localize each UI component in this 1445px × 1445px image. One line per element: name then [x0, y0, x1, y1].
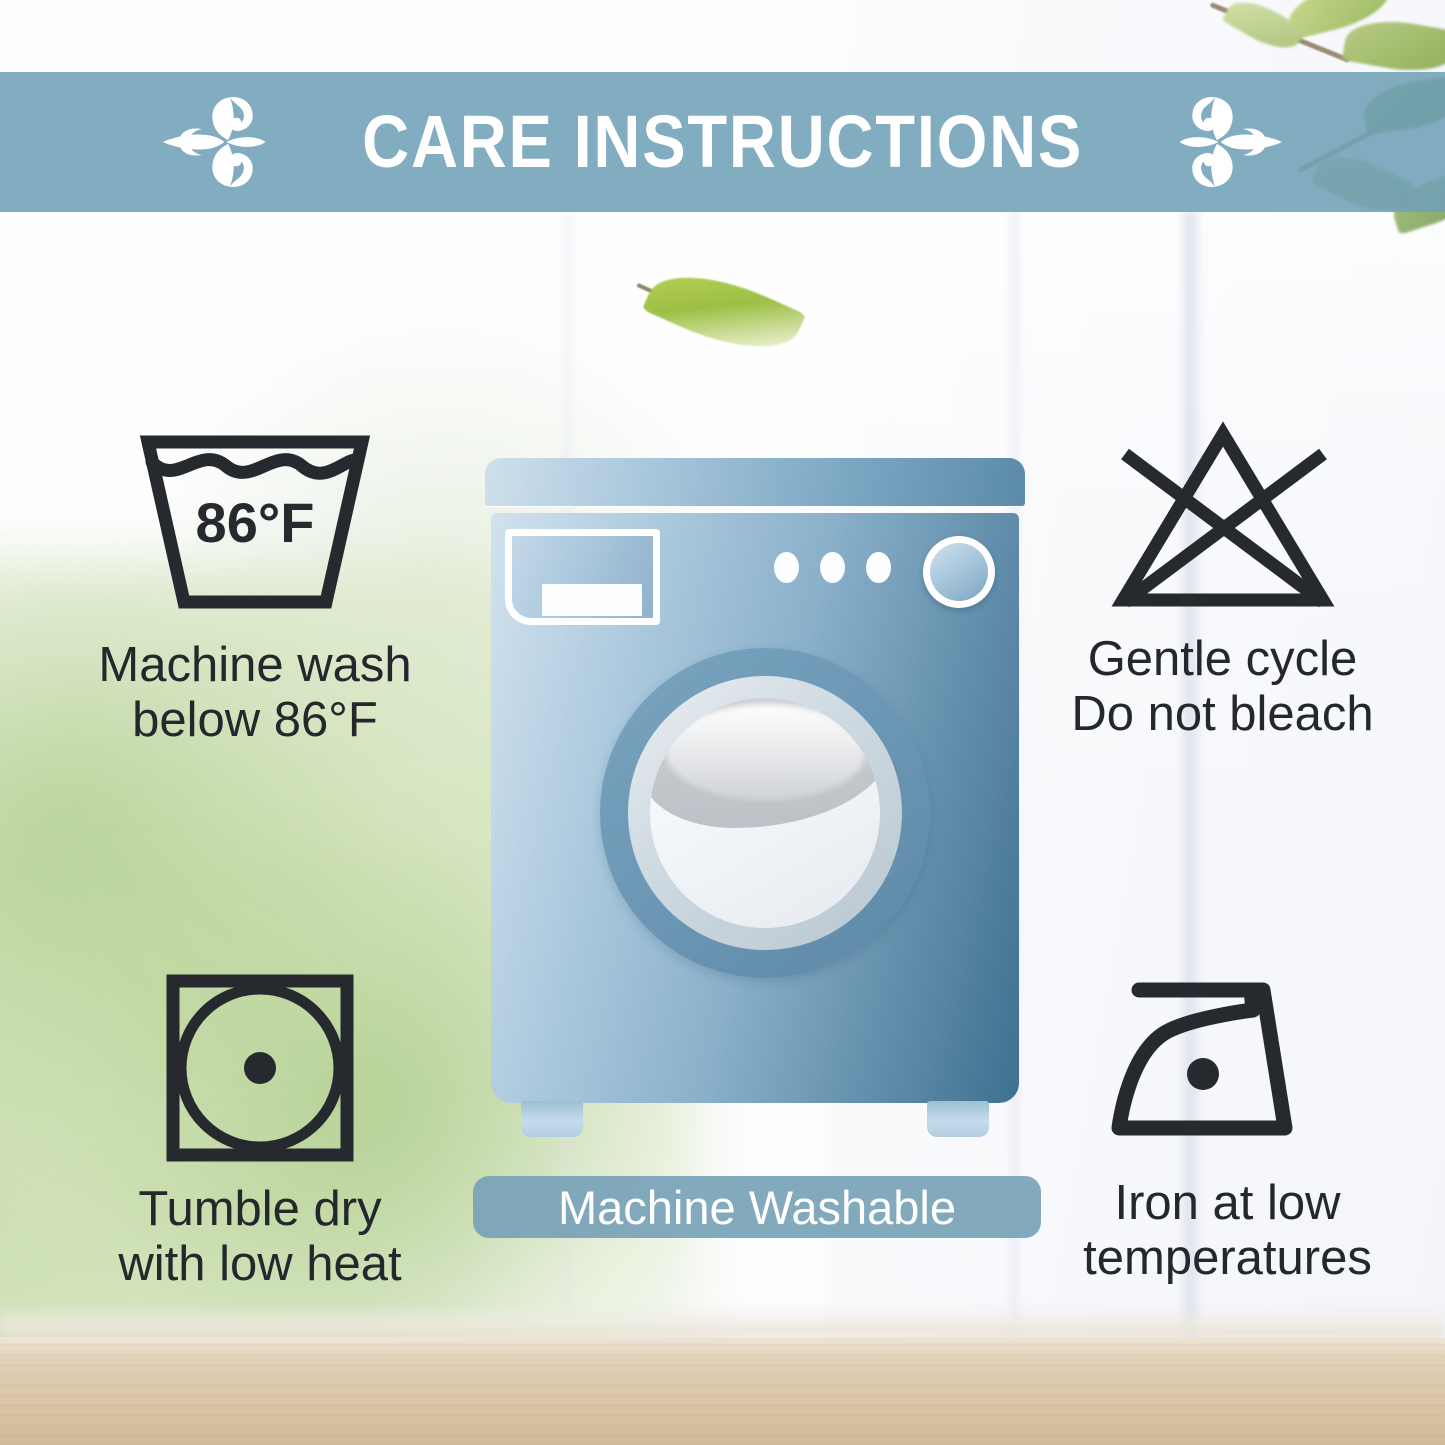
header-banner: CARE INSTRUCTIONS: [0, 72, 1445, 212]
caption-line-1: Gentle cycle: [1071, 632, 1373, 687]
wood-grain-texture: [0, 1337, 1445, 1445]
machine-foot: [521, 1101, 583, 1137]
care-symbol-do-not-bleach: Gentle cycle Do not bleach: [1000, 418, 1445, 742]
door-glass-highlight: [666, 704, 866, 800]
care-caption-tumble-dry: Tumble dry with low heat: [118, 1182, 401, 1292]
care-caption-do-not-bleach: Gentle cycle Do not bleach: [1071, 632, 1373, 742]
caption-line-2: Do not bleach: [1071, 687, 1373, 742]
indicator-light-icon: [774, 552, 799, 583]
tumble-dry-low-icon: [155, 968, 365, 1168]
machine-body: [491, 513, 1019, 1103]
washing-machine-illustration: [485, 458, 1025, 1126]
indicator-light-icon: [866, 552, 891, 583]
fleur-de-lis-icon: [1172, 88, 1284, 196]
machine-top-lid: [485, 458, 1025, 506]
caption-line-2: temperatures: [1083, 1231, 1372, 1286]
fleur-de-lis-icon: [161, 88, 273, 196]
indicator-light-icon: [820, 552, 845, 583]
door-glass: [650, 698, 880, 928]
caption-line-1: Machine wash: [98, 638, 411, 693]
caption-line-1: Tumble dry: [118, 1182, 401, 1237]
banner-title: CARE INSTRUCTIONS: [362, 105, 1083, 179]
badge-label: Machine Washable: [558, 1184, 956, 1231]
iron-low-icon: [1103, 966, 1353, 1162]
care-symbol-tumble-dry: Tumble dry with low heat: [30, 968, 490, 1292]
control-knob: [923, 536, 995, 608]
machine-door: [600, 648, 930, 978]
infographic-canvas: CARE INSTRUCTIONS 86°F Machine: [0, 0, 1445, 1445]
caption-line-2: with low heat: [118, 1237, 401, 1292]
door-ring: [628, 676, 902, 950]
care-symbol-iron-low: Iron at low temperatures: [1010, 966, 1445, 1286]
wash-temperature-value: 86°F: [196, 491, 315, 554]
care-caption-machine-wash: Machine wash below 86°F: [98, 638, 411, 748]
detergent-drawer: [505, 529, 660, 625]
control-knob-face: [930, 543, 988, 601]
table-edge: [0, 1303, 1445, 1337]
drawer-handle: [542, 584, 642, 616]
wash-tub-icon: 86°F: [130, 424, 380, 624]
care-caption-iron-low: Iron at low temperatures: [1083, 1176, 1372, 1286]
no-bleach-triangle-icon: [1097, 418, 1349, 618]
caption-line-2: below 86°F: [98, 693, 411, 748]
machine-washable-badge: Machine Washable: [473, 1176, 1041, 1238]
caption-line-1: Iron at low: [1083, 1176, 1372, 1231]
machine-foot: [927, 1101, 989, 1137]
care-symbol-machine-wash: 86°F Machine wash below 86°F: [20, 424, 490, 748]
